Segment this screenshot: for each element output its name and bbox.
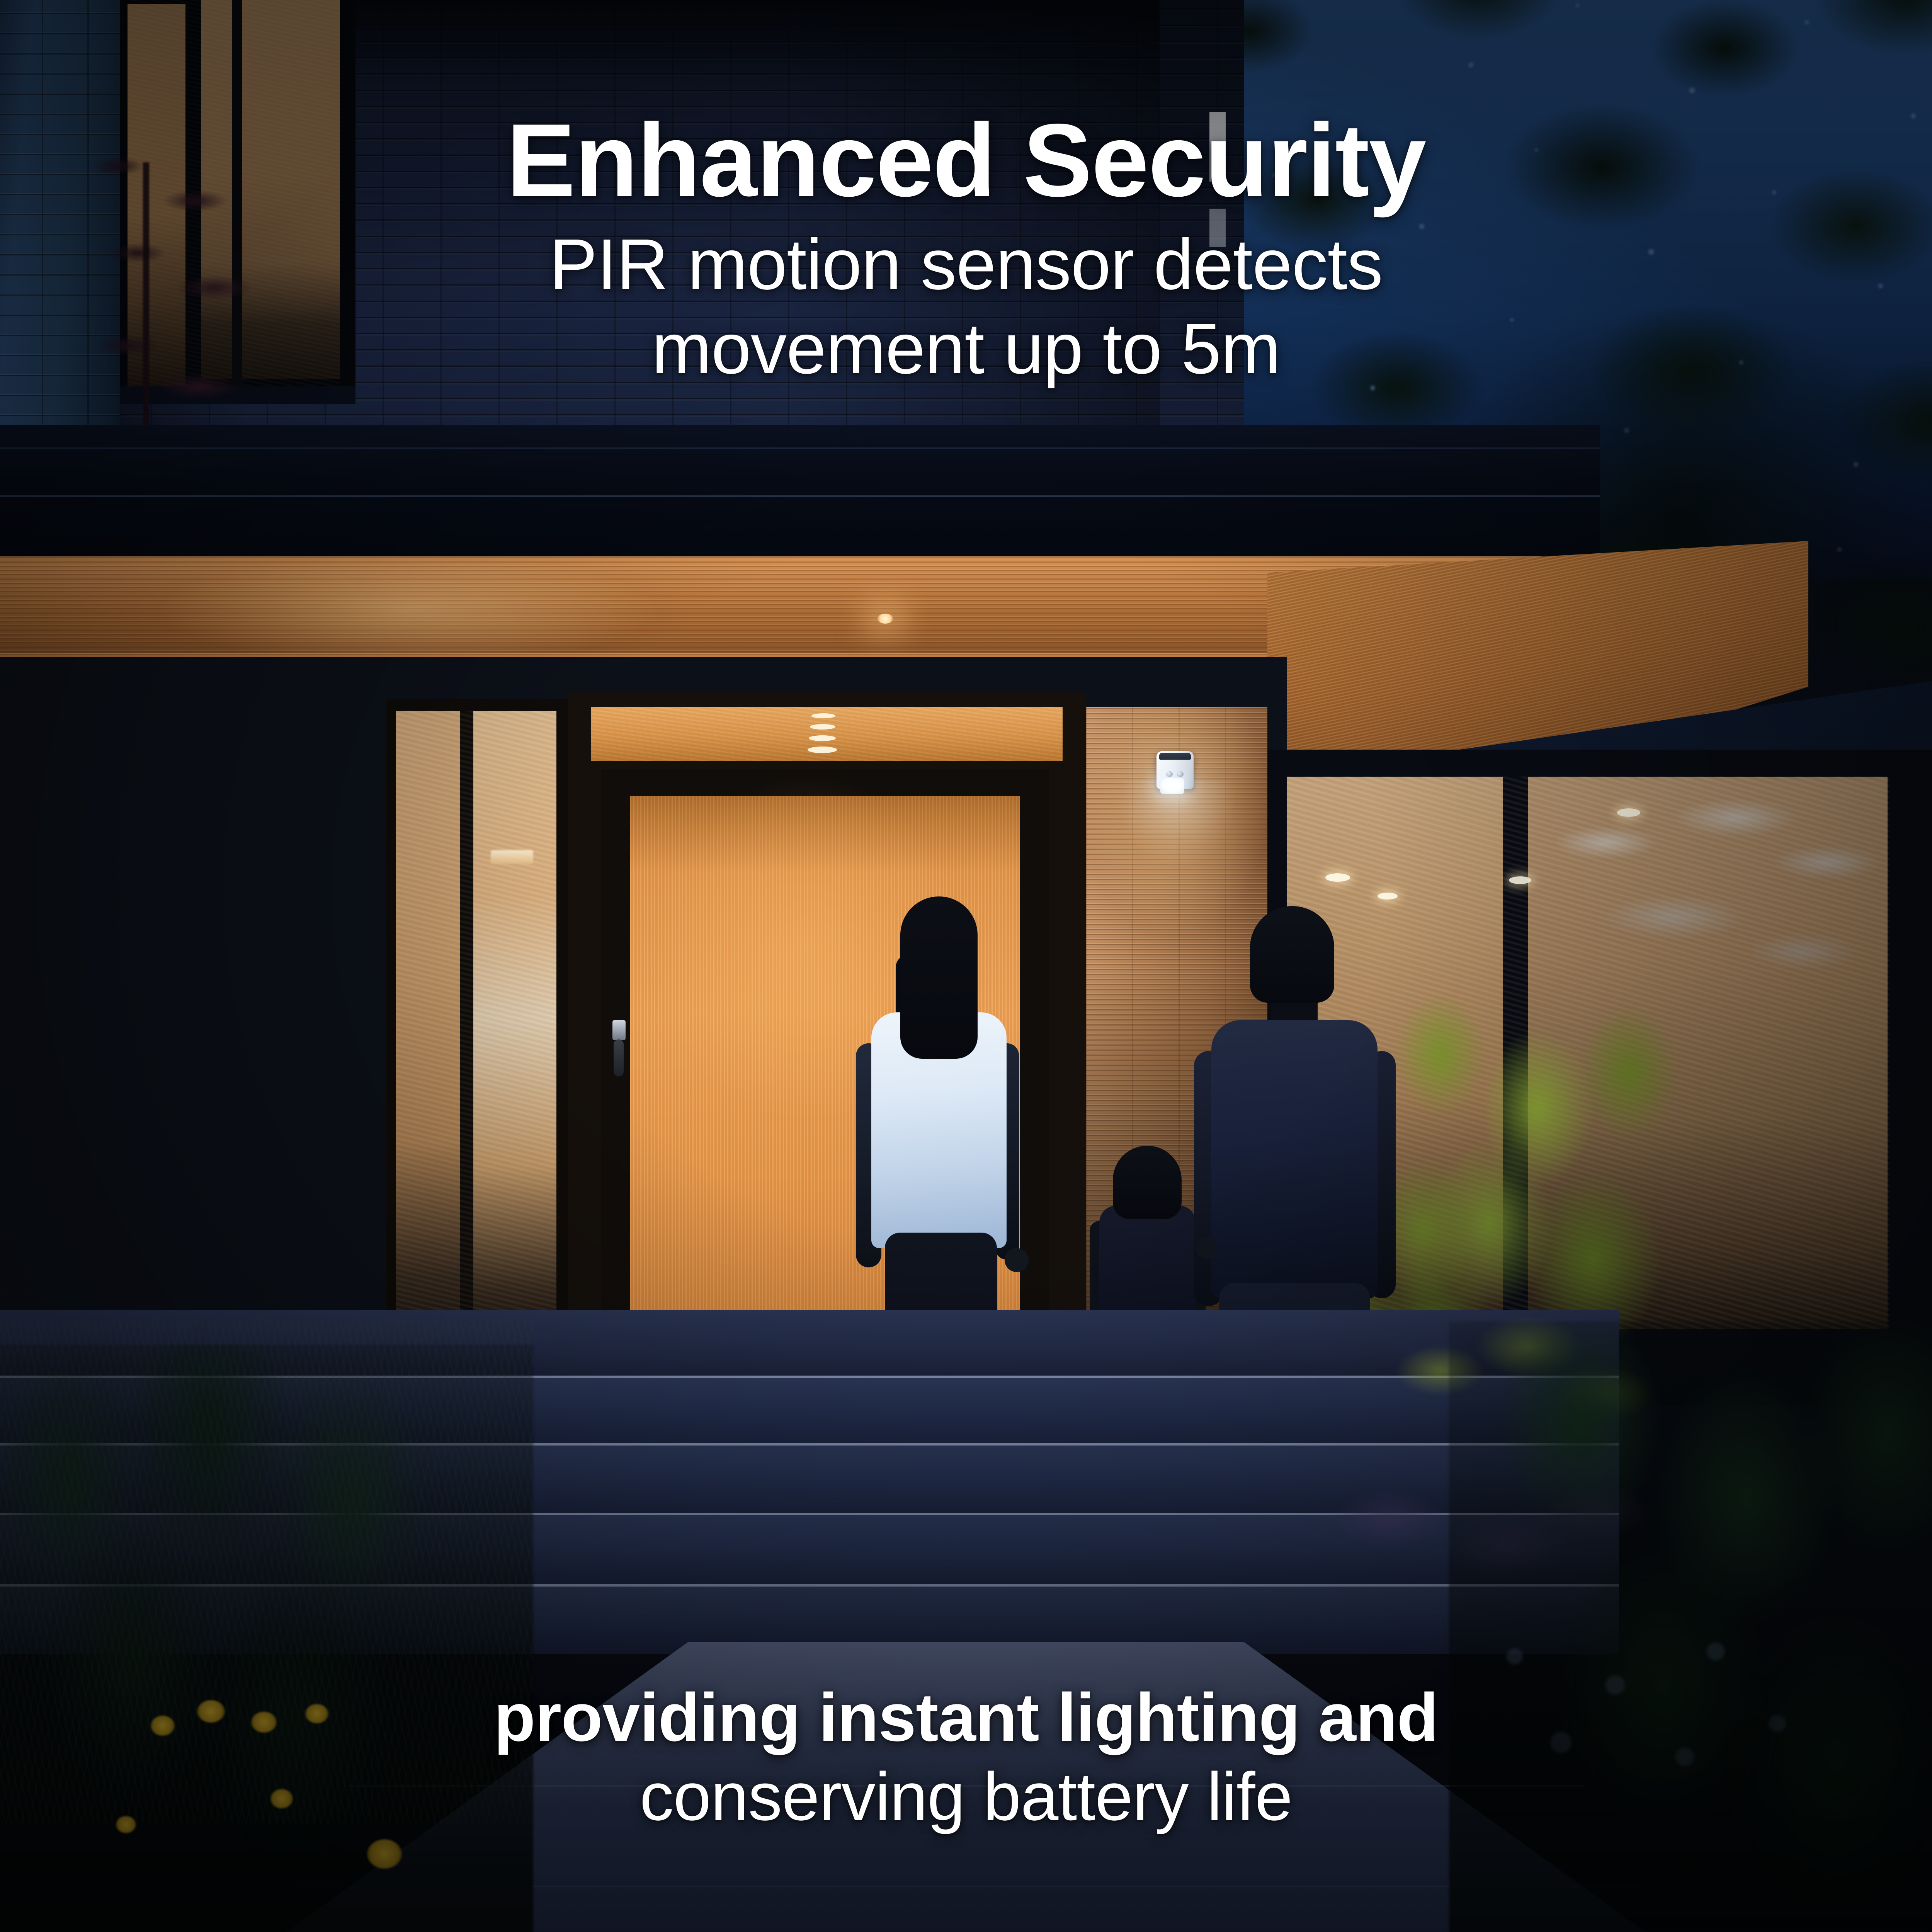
yellow-flower <box>367 1839 402 1869</box>
soffit-warm-glow <box>116 556 889 653</box>
door-lock-icon <box>612 1020 626 1040</box>
interior-ceiling-light-icon <box>1509 876 1531 884</box>
transom-light-reflection <box>809 735 836 741</box>
interior-sconce-glow <box>491 850 533 864</box>
fascia-upper-edge <box>0 447 1600 449</box>
man-head <box>1250 906 1334 1003</box>
subheadline-line-2: movement up to 5m <box>0 307 1932 391</box>
footer-line-1: providing instant lighting and <box>0 1681 1932 1754</box>
motion-light-beam <box>1097 781 1260 981</box>
fascia-lower-edge <box>0 495 1600 497</box>
bottom-text-block: providing instant lighting and conservin… <box>0 1681 1932 1836</box>
subheadline-block: PIR motion sensor detects movement up to… <box>0 223 1932 391</box>
marketing-banner: Enhanced Security PIR motion sensor dete… <box>0 0 1932 1932</box>
child-head <box>1113 1146 1182 1219</box>
led-panel-icon <box>1160 778 1184 794</box>
door-handle-icon <box>614 1039 624 1077</box>
joined-hands-right <box>1196 1236 1218 1259</box>
man-shirt <box>1211 1020 1378 1298</box>
recessed-downlight-icon <box>877 614 893 624</box>
pir-sensor-icon <box>1166 771 1173 777</box>
interior-ceiling-light-icon <box>1378 893 1398 900</box>
solar-panel-icon <box>1159 753 1191 760</box>
joined-hands-left <box>1005 1248 1029 1272</box>
roof-fascia-band <box>0 425 1600 564</box>
transom-light-reflection <box>811 713 835 718</box>
interior-ceiling-light-icon <box>1325 873 1350 882</box>
footer-line-2: conserving battery life <box>0 1758 1932 1836</box>
transom-light-reflection <box>808 747 837 753</box>
pir-sensor-icon <box>1177 771 1184 777</box>
page-title: Enhanced Security <box>0 108 1932 212</box>
interior-ceiling-light-icon <box>1617 808 1640 817</box>
subheadline-line-1: PIR motion sensor detects <box>0 223 1932 307</box>
sidelight-frosted-texture <box>396 711 556 1325</box>
woman-head <box>900 896 978 1059</box>
transom-light-reflection <box>810 724 835 730</box>
top-text-block: Enhanced Security PIR motion sensor dete… <box>0 108 1932 391</box>
